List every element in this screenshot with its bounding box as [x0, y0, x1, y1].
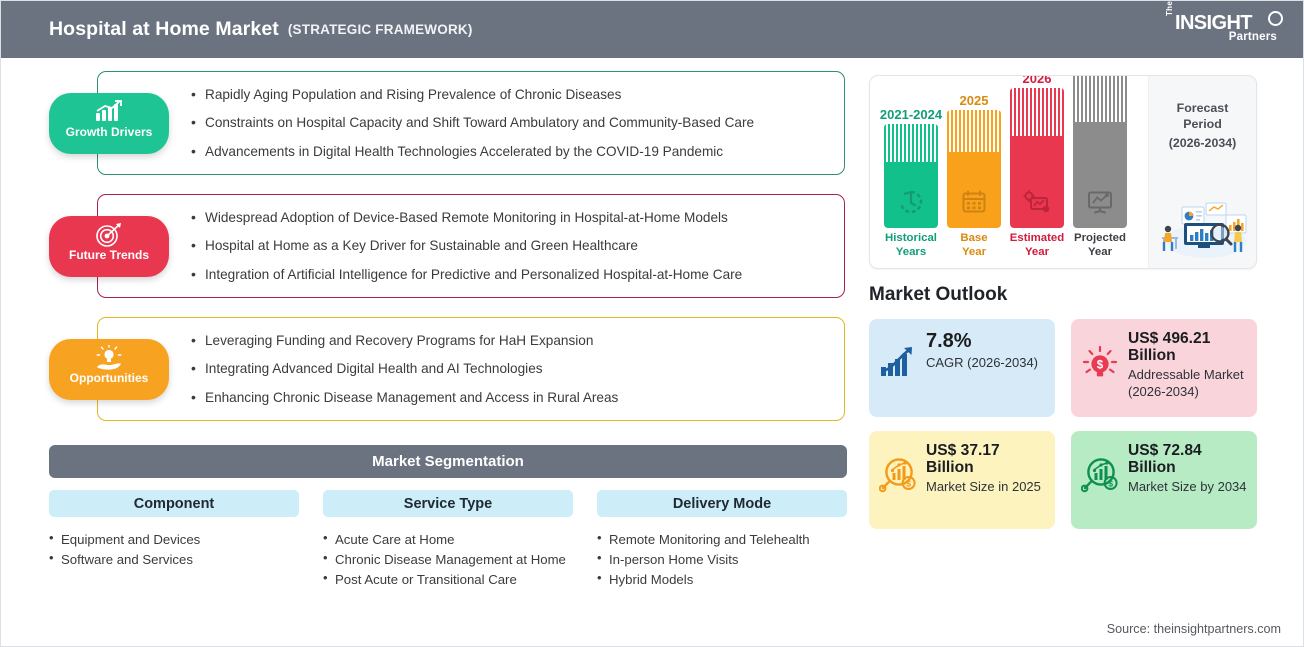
market-outlook-title: Market Outlook	[869, 284, 1259, 306]
bar-category-label: Projected Year	[1073, 232, 1127, 260]
magnifier-bars-dollar-icon: $	[1081, 443, 1121, 498]
list-item: Constraints on Hospital Capacity and Shi…	[191, 115, 841, 131]
list-item: Chronic Disease Management at Home	[323, 550, 573, 569]
bar-category-label: Base Year	[947, 232, 1001, 260]
forecast-title-line2: Period	[1183, 116, 1222, 132]
badge-future-trends[interactable]: Future Trends	[49, 216, 169, 277]
insight-row-future-trends: Future Trends Widespread Adoption of Dev…	[1, 194, 861, 298]
source-note: Source: theinsightpartners.com	[1107, 622, 1281, 636]
forecast-title-line1: Forecast	[1177, 100, 1229, 116]
list-item: Advancements in Digital Health Technolog…	[191, 144, 841, 160]
outlook-card-addressable-market[interactable]: $ US$ 496.21 Billion Addressable Market …	[1071, 319, 1257, 417]
outlook-card-label: Addressable Market (2026-2034)	[1128, 367, 1247, 401]
outlook-card-label: CAGR (2026-2034)	[926, 355, 1045, 372]
forecast-range: (2026-2034)	[1169, 136, 1237, 150]
badge-label: Opportunities	[70, 372, 149, 384]
segmentation-column-component: Component Equipment and Devices Software…	[49, 490, 299, 590]
list-item: Post Acute or Transitional Care	[323, 570, 573, 589]
list-item: Leveraging Funding and Recovery Programs…	[191, 333, 841, 349]
insight-partners-logo[interactable]: The INSIGHT Partners	[1165, 11, 1283, 49]
list-item: Equipment and Devices	[49, 530, 299, 549]
market-segmentation: Market Segmentation Component Equipment …	[49, 445, 847, 590]
chart-bars: 2021-2024 Historical Years	[884, 76, 1144, 269]
outlook-card-value: US$ 496.21 Billion	[1128, 331, 1247, 365]
outlook-card-label: Market Size by 2034	[1128, 479, 1247, 496]
settings-chart-icon	[1023, 189, 1051, 220]
column-list: Acute Care at Home Chronic Disease Manag…	[323, 530, 573, 589]
logo-the-text: The	[1165, 1, 1174, 16]
list-item: Enhancing Chronic Disease Management and…	[191, 390, 841, 406]
column-header: Delivery Mode	[597, 490, 847, 517]
segmentation-title: Market Segmentation	[49, 445, 847, 478]
outlook-card-market-size-2034[interactable]: $ US$ 72.84 Billion Market Size by 2034	[1071, 431, 1257, 529]
outlook-card-label: Market Size in 2025	[926, 479, 1045, 496]
svg-text:$: $	[1108, 479, 1113, 489]
outlook-card-text: US$ 37.17 Billion Market Size in 2025	[926, 443, 1045, 496]
outlook-card-cagr[interactable]: 7.8% CAGR (2026-2034)	[869, 319, 1055, 417]
list-item: In-person Home Visits	[597, 550, 847, 569]
monitor-chart-icon	[1086, 189, 1114, 220]
badge-label: Growth Drivers	[66, 126, 153, 138]
badge-opportunities[interactable]: Opportunities	[49, 339, 169, 400]
magnifier-bars-dollar-icon: $	[879, 443, 919, 498]
list-item: Rapidly Aging Population and Rising Prev…	[191, 87, 841, 103]
circle-dot-icon	[1268, 11, 1283, 26]
list-item: Software and Services	[49, 550, 299, 569]
bar-chart-growth-icon	[94, 98, 124, 125]
page-header: Hospital at Home Market (STRATEGIC FRAME…	[1, 1, 1304, 58]
outlook-card-value: 7.8%	[926, 331, 1045, 353]
market-outlook-cards: 7.8% CAGR (2026-2034) $ US$ 496.21 Billi…	[869, 319, 1259, 529]
outlook-card-value: US$ 72.84 Billion	[1128, 443, 1247, 477]
bar-group-projected-year: 2034 Projected Year	[1073, 75, 1127, 260]
forecast-period-panel: Forecast Period (2026-2034)	[1148, 76, 1256, 269]
outlook-card-market-size-2025[interactable]: $ US$ 37.17 Billion Market Size in 2025	[869, 431, 1055, 529]
list-item: Hospital at Home as a Key Driver for Sus…	[191, 238, 841, 254]
list-item: Integration of Artificial Intelligence f…	[191, 267, 841, 283]
svg-text:$: $	[906, 479, 911, 489]
list-item: Integrating Advanced Digital Health and …	[191, 361, 841, 377]
bar-group-estimated-year: 2026 Estimated	[1010, 75, 1064, 260]
column-header: Service Type	[323, 490, 573, 517]
lightbulb-hand-icon	[94, 344, 124, 371]
insight-bullet-list: Rapidly Aging Population and Rising Prev…	[191, 71, 841, 175]
insight-bullet-list: Leveraging Funding and Recovery Programs…	[191, 317, 841, 421]
market-timeline-chart: 2021-2024 Historical Years	[869, 75, 1257, 269]
list-item: Remote Monitoring and Telehealth	[597, 530, 847, 549]
insight-row-growth-drivers: Growth Drivers Rapidly Aging Population …	[1, 71, 861, 175]
analytics-dashboard-illustration	[1154, 197, 1252, 264]
insight-row-opportunities: Opportunities Leveraging Funding and Rec…	[1, 317, 861, 421]
badge-label: Future Trends	[69, 249, 149, 261]
column-list: Equipment and Devices Software and Servi…	[49, 530, 299, 569]
history-clock-icon	[898, 189, 924, 220]
infographic-page: Hospital at Home Market (STRATEGIC FRAME…	[0, 0, 1304, 647]
list-item: Hybrid Models	[597, 570, 847, 589]
list-item: Acute Care at Home	[323, 530, 573, 549]
page-subtitle: (STRATEGIC FRAMEWORK)	[288, 22, 473, 37]
outlook-card-text: US$ 72.84 Billion Market Size by 2034	[1128, 443, 1247, 496]
insight-bullet-list: Widespread Adoption of Device-Based Remo…	[191, 194, 841, 298]
segmentation-column-delivery-mode: Delivery Mode Remote Monitoring and Tele…	[597, 490, 847, 590]
column-list: Remote Monitoring and Telehealth In-pers…	[597, 530, 847, 589]
right-column: 2021-2024 Historical Years	[869, 75, 1259, 529]
badge-growth-drivers[interactable]: Growth Drivers	[49, 93, 169, 154]
outlook-card-text: US$ 496.21 Billion Addressable Market (2…	[1128, 331, 1247, 400]
bar-year-label: 2025	[960, 93, 989, 108]
bar-year-label: 2026	[1023, 75, 1052, 86]
bar-group-base-year: 2025	[947, 93, 1001, 260]
list-item: Widespread Adoption of Device-Based Remo…	[191, 210, 841, 226]
bar-year-label: 2021-2024	[880, 107, 942, 122]
bar-category-label: Historical Years	[884, 232, 938, 260]
segmentation-column-service-type: Service Type Acute Care at Home Chronic …	[323, 490, 573, 590]
svg-text:$: $	[1097, 360, 1104, 372]
logo-partners-text: Partners	[1229, 31, 1277, 43]
outlook-card-text: 7.8% CAGR (2026-2034)	[926, 331, 1045, 371]
target-dartboard-icon	[95, 221, 123, 248]
page-title: Hospital at Home Market	[49, 18, 279, 41]
growth-arrow-chart-icon	[879, 331, 919, 384]
bar-category-label: Estimated Year	[1010, 232, 1064, 260]
segmentation-columns: Component Equipment and Devices Software…	[49, 490, 847, 590]
bar-group-historical-years: 2021-2024 Historical Years	[884, 107, 938, 260]
calendar-icon	[961, 189, 987, 220]
column-header: Component	[49, 490, 299, 517]
lightbulb-dollar-icon: $	[1081, 331, 1121, 388]
left-column: Growth Drivers Rapidly Aging Population …	[1, 58, 861, 440]
outlook-card-value: US$ 37.17 Billion	[926, 443, 1045, 477]
